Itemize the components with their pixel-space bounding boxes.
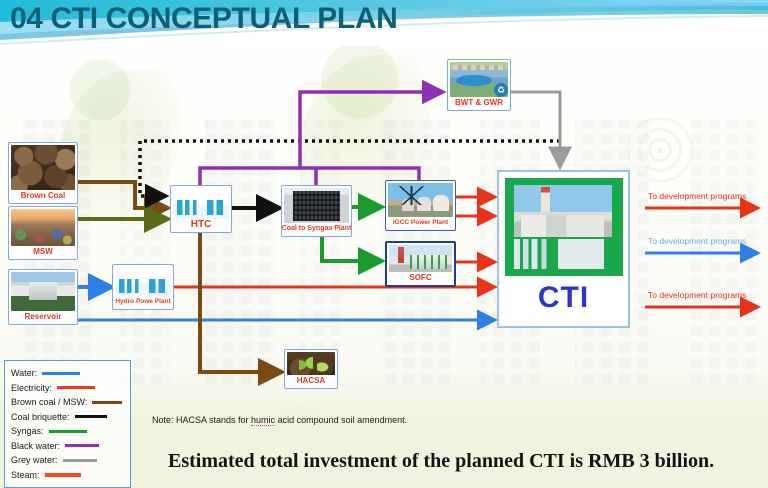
legend-label-grey-water: Grey water: [11, 455, 58, 465]
legend-item-electricity: Electricity: [11, 381, 124, 396]
legend-label-black-water: Black water: [11, 441, 60, 451]
edge-htc-bwt [200, 92, 443, 185]
legend-label-browncoal-msw: Brown coal / MSW: [11, 397, 87, 407]
edge-syngas-sofc [322, 237, 382, 261]
node-syngas-label: Coal to Syngas Plant [282, 224, 352, 234]
node-reservoir[interactable]: Reservoir [8, 269, 78, 325]
output-label-3: To development programs [648, 290, 746, 300]
node-htc-label: HTC [191, 220, 212, 230]
slide-canvas: 04 CTI CONCEPTUAL PLAN [0, 0, 768, 488]
legend-item-grey-water: Grey water: [11, 453, 124, 468]
note-text: Note: HACSA stands for humic acid compou… [152, 415, 407, 425]
legend-item-browncoal-msw: Brown coal / MSW: [11, 395, 124, 410]
note-prefix: Note: HACSA stands for [152, 415, 251, 425]
edge-bwt-cti-greywater [510, 92, 560, 166]
power-pylon-icon [388, 183, 453, 217]
legend-swatch-black-water [65, 444, 99, 447]
node-msw-label: MSW [33, 247, 53, 257]
htc-plant-icon [173, 188, 229, 219]
hydro-plant-icon [115, 267, 171, 296]
legend-swatch-syngas [49, 430, 87, 433]
legend-panel: Water: Electricity: Brown coal / MSW: Co… [4, 360, 131, 488]
node-sofc[interactable]: SOFC [385, 241, 456, 287]
node-hacsa[interactable]: HACSA [284, 349, 338, 389]
node-igcc[interactable]: IGCC Power Plant [385, 180, 456, 231]
node-cti-main[interactable]: CTI [497, 170, 630, 328]
note-underlined-word: humic [251, 415, 275, 426]
legend-swatch-grey-water [63, 459, 97, 462]
node-coal-to-syngas[interactable]: Coal to Syngas Plant [281, 185, 352, 237]
dam-reservoir-icon [11, 272, 75, 311]
legend-swatch-water [42, 372, 80, 375]
seedling-soil-icon [287, 352, 335, 375]
node-hydro-power-plant[interactable]: Hydro Powe Plant [112, 264, 174, 310]
gasifier-icon [284, 188, 349, 223]
industrial-complex-icon [505, 178, 623, 276]
recycle-icon: ♻ [494, 83, 508, 97]
legend-item-black-water: Black water: [11, 439, 124, 454]
node-bwt-label: BWT & GWR [455, 98, 503, 108]
legend-label-coal-briquette: Coal briquette: [11, 412, 70, 422]
coal-pile-icon [11, 145, 75, 190]
node-brown-coal[interactable]: Brown Coal [8, 142, 78, 204]
cti-photo-upper [514, 185, 612, 237]
output-label-1: To development programs [648, 191, 746, 201]
footer-investment-text: Estimated total investment of the planne… [168, 450, 758, 473]
node-cti-label: CTI [538, 281, 589, 315]
page-title: 04 CTI CONCEPTUAL PLAN [10, 2, 397, 36]
legend-label-water: Water: [11, 368, 37, 378]
legend-label-syngas: Syngas: [11, 426, 44, 436]
legend-swatch-electricity [57, 386, 95, 389]
legend-swatch-steam [45, 473, 81, 477]
node-hydro-label: Hydro Powe Plant [115, 297, 170, 307]
node-htc[interactable]: HTC [170, 185, 232, 233]
legend-item-coal-briquette: Coal briquette: [11, 410, 124, 425]
waste-landfill-icon [11, 209, 75, 246]
legend-item-steam: Steam: [11, 468, 124, 483]
node-reservoir-label: Reservoir [25, 312, 62, 322]
edge-htc-hacsa [200, 232, 282, 372]
edge-browncoal-htc [78, 182, 168, 208]
cti-photo-tanks [514, 239, 612, 269]
legend-swatch-coal-briquette [75, 415, 107, 418]
edge-igcc-bwt [300, 168, 419, 180]
node-igcc-label: IGCC Power Plant [393, 218, 448, 228]
legend-swatch-browncoal-msw [92, 401, 122, 404]
legend-item-syngas: Syngas: [11, 424, 124, 439]
output-label-2: To development programs [648, 236, 746, 246]
legend-item-water: Water: [11, 366, 124, 381]
node-brown-coal-label: Brown Coal [21, 191, 65, 201]
node-msw[interactable]: MSW [8, 206, 78, 260]
water-treatment-icon: ♻ [450, 62, 508, 97]
legend-label-steam: Steam: [11, 470, 40, 480]
legend-label-electricity: Electricity: [11, 383, 52, 393]
node-bwt-gwr[interactable]: ♻ BWT & GWR [447, 59, 511, 111]
fuel-cell-plant-icon [389, 245, 452, 272]
node-sofc-label: SOFC [409, 273, 431, 283]
node-hacsa-label: HACSA [297, 376, 325, 386]
note-suffix: acid compound soil amendment. [275, 415, 407, 425]
